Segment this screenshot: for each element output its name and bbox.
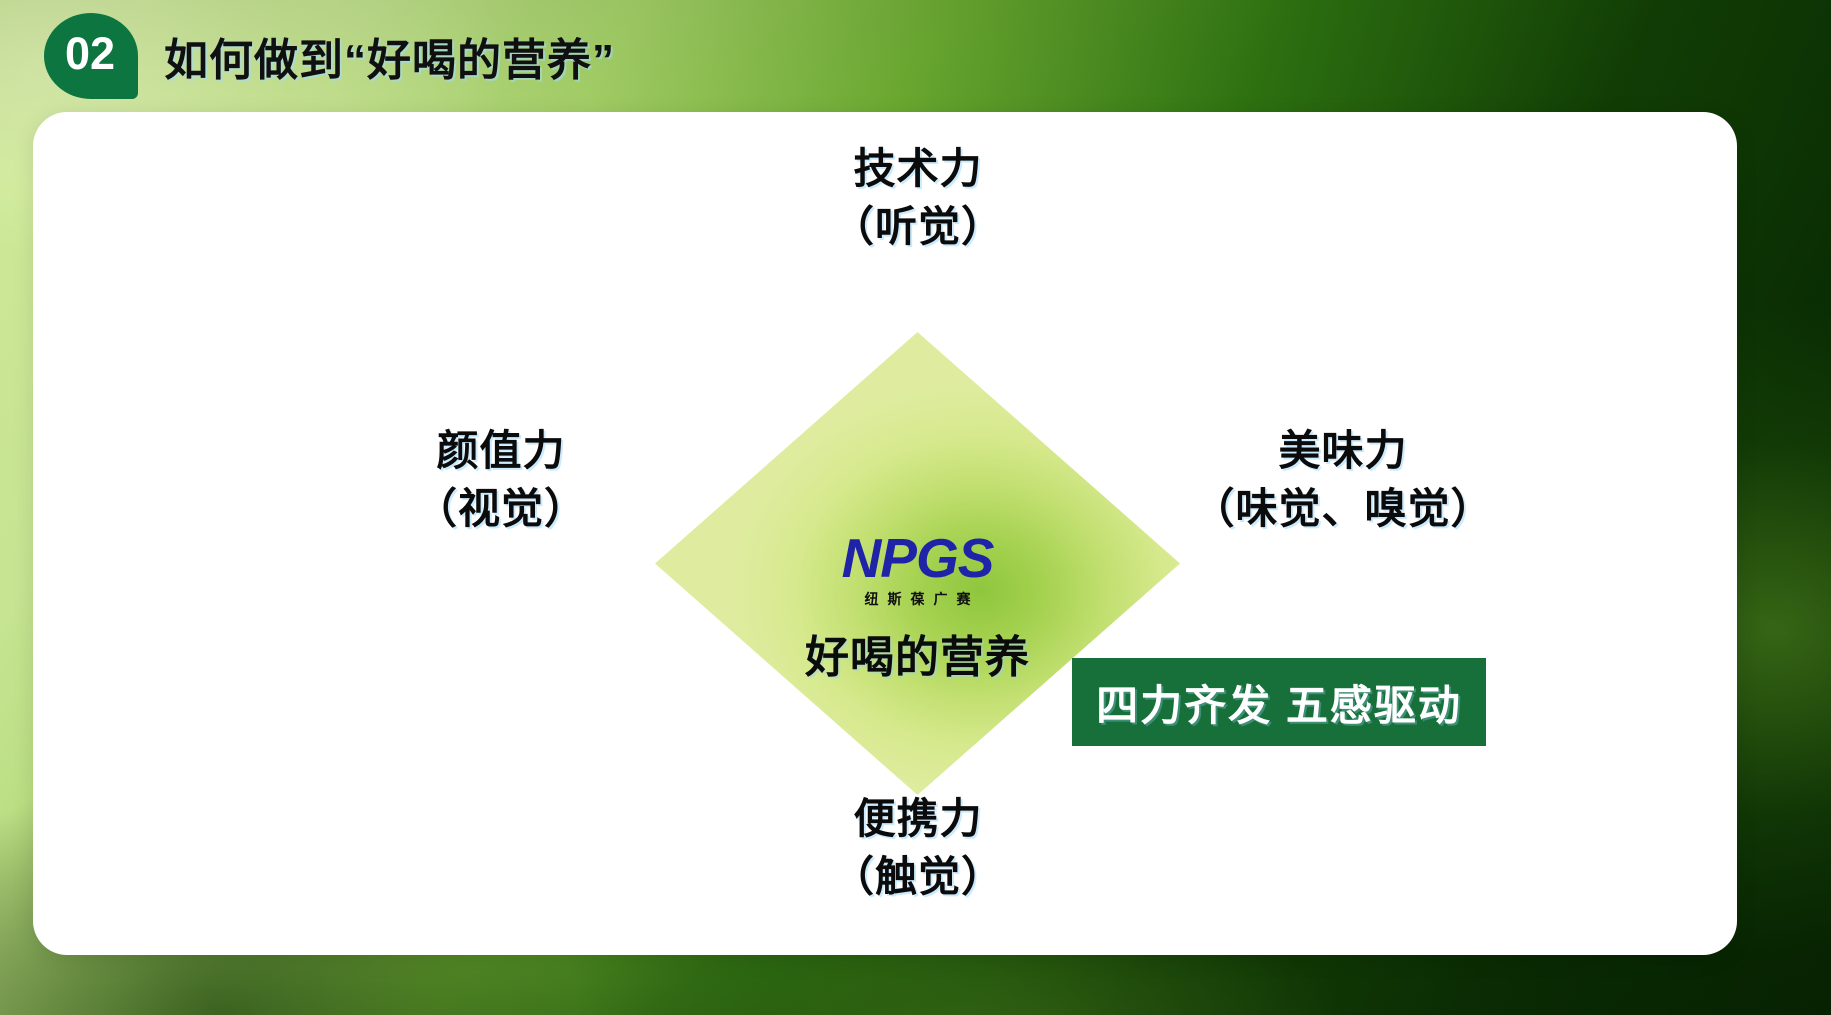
force-label-bottom: 便携力 （触觉）: [693, 790, 1143, 906]
slide-root: 02 如何做到“好喝的营养” 技术力 （听觉） 颜值力 （视觉） 美味力 （味觉…: [0, 0, 1831, 1015]
npgs-logo-wordmark: NPGS: [842, 531, 994, 586]
slide-header: 02 如何做到“好喝的营养”: [0, 0, 615, 112]
force-right-name: 美味力: [1278, 427, 1407, 474]
page-title: 如何做到“好喝的营养”: [164, 24, 615, 88]
force-label-right: 美味力 （味觉、嗅觉）: [1063, 422, 1623, 538]
force-bottom-name: 便携力: [853, 795, 982, 842]
force-left-name: 颜值力: [436, 427, 565, 474]
npgs-logo: NPGS 纽斯葆广赛: [842, 531, 994, 609]
force-left-sense: （视觉）: [281, 480, 721, 538]
force-label-top: 技术力 （听觉）: [693, 140, 1143, 256]
summary-tag: 四力齐发 五感驱动: [1072, 658, 1486, 746]
force-label-left: 颜值力 （视觉）: [281, 422, 721, 538]
section-number-badge: 02: [44, 13, 138, 99]
force-right-sense: （味觉、嗅觉）: [1063, 480, 1623, 538]
npgs-logo-subtext: 纽斯葆广赛: [865, 589, 980, 609]
summary-tag-label: 四力齐发 五感驱动: [1096, 672, 1462, 733]
center-slogan: 好喝的营养: [805, 621, 1030, 685]
force-bottom-sense: （触觉）: [693, 848, 1143, 906]
force-top-name: 技术力: [853, 145, 982, 192]
section-number-text: 02: [44, 13, 138, 99]
force-top-sense: （听觉）: [693, 198, 1143, 256]
content-card: 技术力 （听觉） 颜值力 （视觉） 美味力 （味觉、嗅觉） 便携力 （触觉） N…: [33, 112, 1737, 955]
